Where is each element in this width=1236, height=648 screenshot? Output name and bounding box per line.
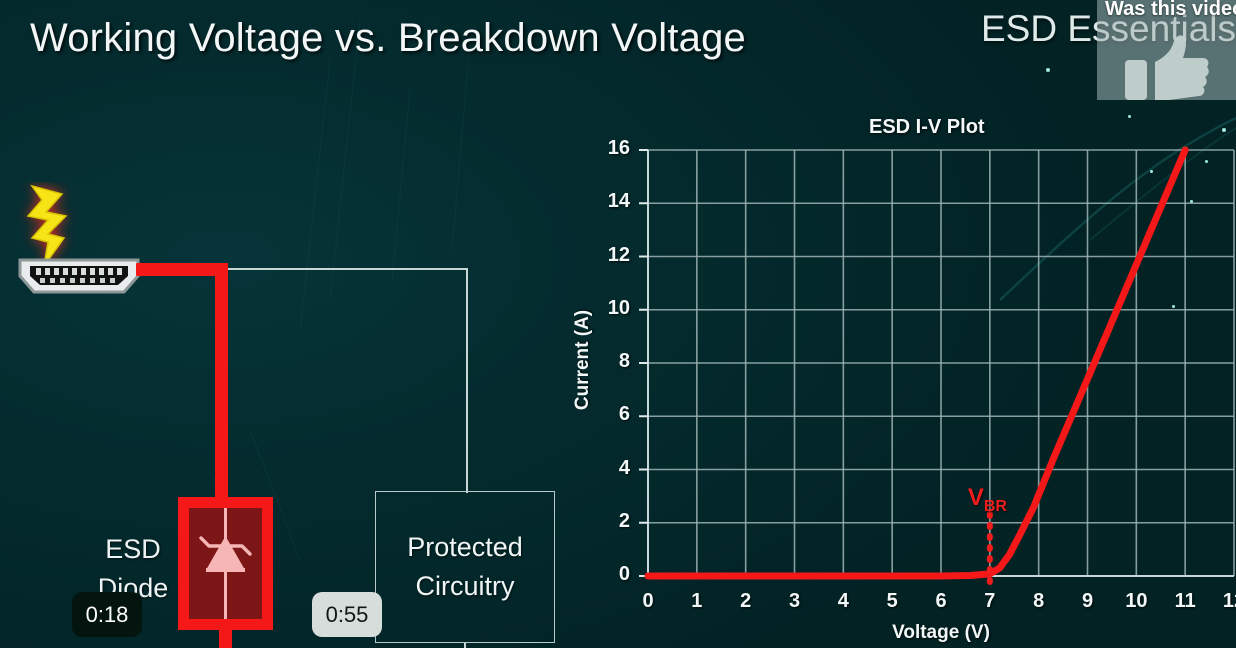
y-axis-tick: 10 xyxy=(596,297,630,320)
page-title: Working Voltage vs. Breakdown Voltage xyxy=(30,16,746,61)
y-axis-tick: 14 xyxy=(596,190,630,213)
x-axis-tick: 8 xyxy=(1022,590,1056,613)
thumbs-up-icon[interactable] xyxy=(1125,34,1209,100)
x-axis-tick: 3 xyxy=(778,590,812,613)
protected-circuitry-label-line2: Circuitry xyxy=(416,571,515,601)
protected-circuitry-label: Protected Circuitry xyxy=(375,528,555,606)
current-time-badge[interactable]: 0:18 xyxy=(72,592,142,637)
ground-wire-red xyxy=(219,628,232,648)
survey-overlay[interactable]: Was this video xyxy=(1097,0,1236,100)
signal-wire-vertical xyxy=(466,268,468,493)
x-axis-tick: 12 xyxy=(1217,590,1236,613)
sparkle xyxy=(1172,305,1175,308)
x-axis-tick: 2 xyxy=(729,590,763,613)
total-time-badge[interactable]: 0:55 xyxy=(312,592,382,637)
sparkle xyxy=(1150,170,1153,173)
x-axis-tick: 4 xyxy=(826,590,860,613)
hdmi-connector-icon xyxy=(14,256,144,298)
chart-title: ESD I-V Plot xyxy=(0,116,1236,139)
y-axis-tick: 6 xyxy=(596,403,630,426)
y-axis-tick: 12 xyxy=(596,244,630,267)
esd-diode-label-line1: ESD xyxy=(105,534,161,564)
x-axis-tick: 9 xyxy=(1071,590,1105,613)
protected-circuitry-label-line1: Protected xyxy=(407,532,523,562)
x-axis-tick: 1 xyxy=(680,590,714,613)
sparkle xyxy=(1190,200,1193,203)
x-axis-label: Voltage (V) xyxy=(841,622,1041,644)
x-axis-tick: 11 xyxy=(1168,590,1202,613)
y-axis-tick: 16 xyxy=(596,137,630,160)
sparkle xyxy=(1205,160,1208,163)
y-axis-label: Current (A) xyxy=(572,290,594,430)
x-axis-tick: 6 xyxy=(924,590,958,613)
protected-ground-wire xyxy=(464,643,466,648)
survey-question: Was this video xyxy=(1105,0,1236,21)
x-axis-tick: 0 xyxy=(631,590,665,613)
vbr-symbol: V xyxy=(968,484,984,511)
y-axis-tick: 8 xyxy=(596,350,630,373)
signal-wire-horizontal xyxy=(228,268,468,270)
sparkle xyxy=(1046,68,1050,72)
y-axis-tick: 2 xyxy=(596,510,630,533)
esd-protection-circuit: ESD Diode Protected Circuitry xyxy=(0,180,600,560)
y-axis-tick: 4 xyxy=(596,457,630,480)
y-axis-tick: 0 xyxy=(596,563,630,586)
surge-wire-vertical xyxy=(215,263,228,503)
vbr-annotation-label: VBR xyxy=(968,484,1007,516)
esd-diode-symbol-box xyxy=(178,497,273,630)
video-frame: Working Voltage vs. Breakdown Voltage ES… xyxy=(0,0,1236,648)
vbr-subscript: BR xyxy=(984,498,1007,515)
x-axis-tick: 10 xyxy=(1119,590,1153,613)
zener-diode-icon xyxy=(189,508,262,619)
x-axis-tick: 7 xyxy=(973,590,1007,613)
x-axis-tick: 5 xyxy=(875,590,909,613)
